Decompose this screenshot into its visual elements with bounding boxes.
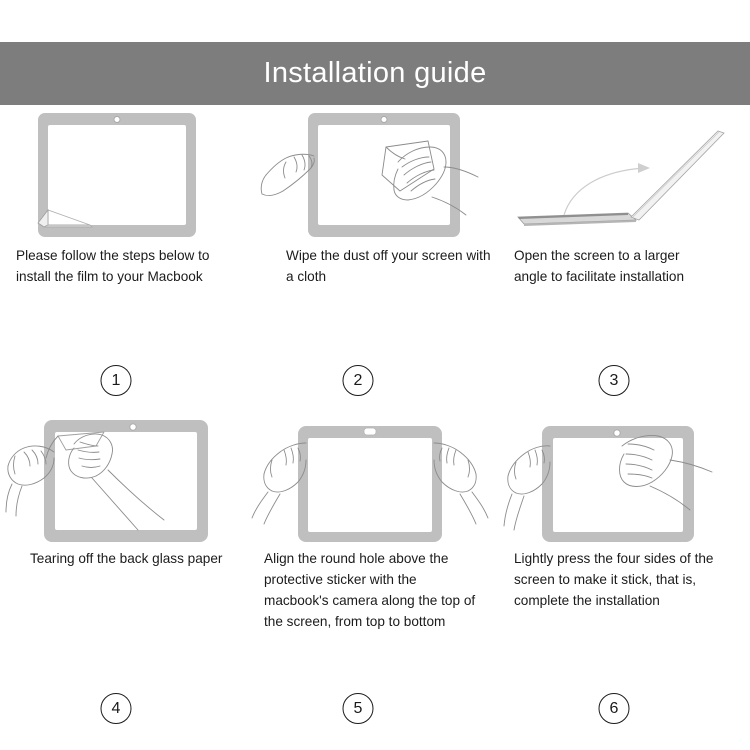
step-number-6: 6 [599,693,630,724]
illustration-tablet-with-peeling-film-corner [0,105,250,245]
step-caption-1: Please follow the steps below to install… [16,245,222,287]
steps-grid: Please follow the steps below to install… [0,105,750,750]
step-card-6: Lightly press the four sides of the scre… [500,408,750,750]
step-number-5: 5 [343,693,374,724]
illustration-hands-wiping-screen-with-cloth [250,105,500,245]
page-title: Installation guide [263,59,486,88]
step-caption-3: Open the screen to a larger angle to fac… [514,245,710,287]
header-band: Installation guide [0,42,750,105]
step-caption-2: Wipe the dust off your screen with a clo… [286,245,492,287]
step-card-3: Open the screen to a larger angle to fac… [500,105,750,408]
step-card-2: Wipe the dust off your screen with a clo… [250,105,500,408]
step-number-4: 4 [101,693,132,724]
step-card-4: Tearing off the back glass paper 4 [0,408,250,750]
step-caption-5: Align the round hole above the protectiv… [264,548,476,632]
illustration-two-hands-aligning-film-over-screen [250,408,500,548]
illustration-hand-pressing-screen-edges [500,408,750,548]
step-number-1: 1 [101,365,132,396]
illustration-laptop-side-profile-opening-lid [500,105,750,245]
step-card-5: Align the round hole above the protectiv… [250,408,500,750]
step-number-2: 2 [343,365,374,396]
step-caption-4: Tearing off the back glass paper [30,548,236,569]
step-number-3: 3 [599,365,630,396]
step-caption-6: Lightly press the four sides of the scre… [514,548,750,611]
step-card-1: Please follow the steps below to install… [0,105,250,408]
illustration-hands-peeling-back-glass-paper [0,408,250,548]
